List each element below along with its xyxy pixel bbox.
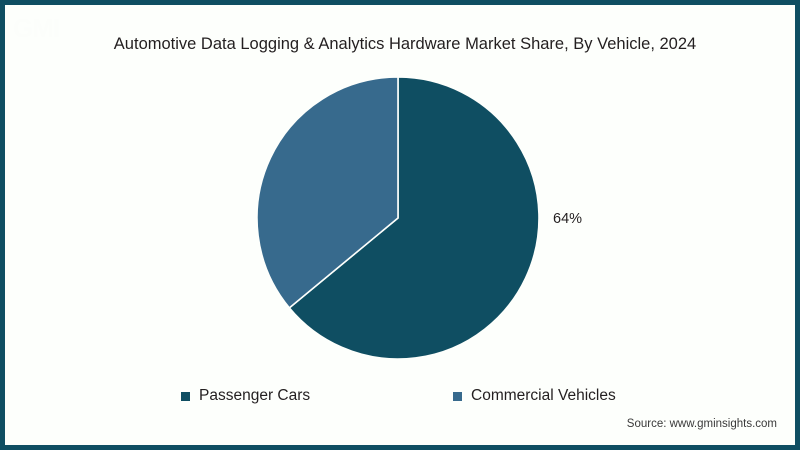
legend-item[interactable]: Passenger Cars [181,385,310,407]
chart-figure: GMI Automotive Data Logging & Analytics … [0,0,800,450]
chart-legend: Passenger CarsCommercial Vehicles [5,385,800,407]
pie-slice-value-label: 64% [553,211,582,227]
legend-swatch-icon [181,392,190,401]
legend-swatch-icon [453,392,462,401]
legend-item-label: Passenger Cars [199,387,310,405]
source-attribution: Source: www.gminsights.com [627,418,777,430]
legend-item-label: Commercial Vehicles [471,387,616,405]
pie-chart [5,5,800,450]
legend-item[interactable]: Commercial Vehicles [453,385,616,407]
